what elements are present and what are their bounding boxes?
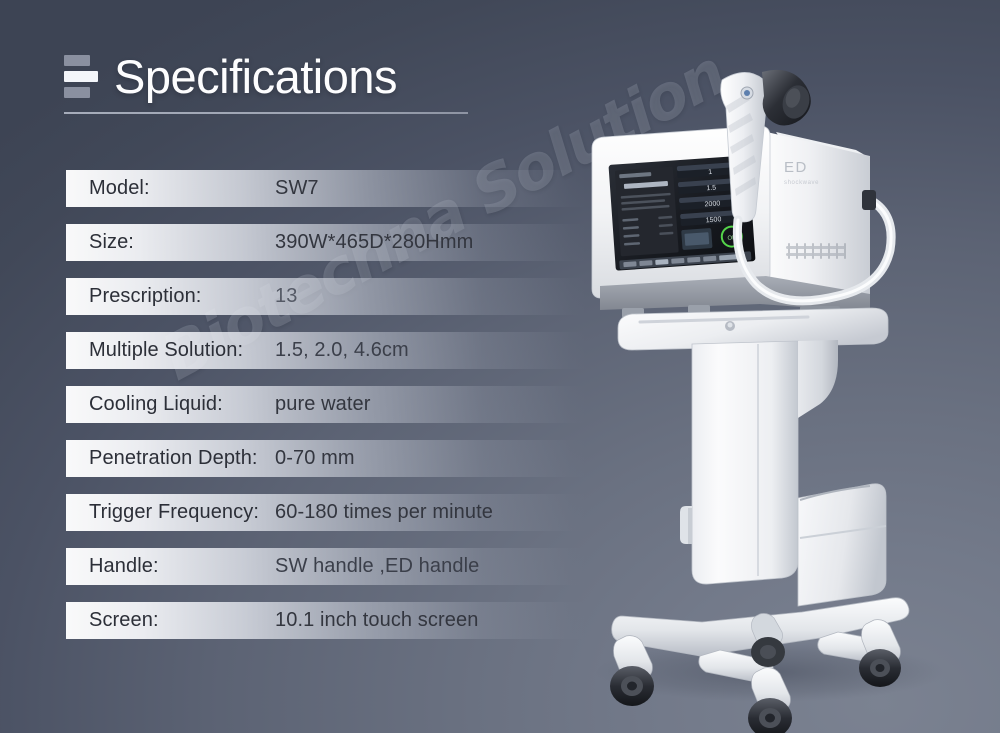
product-image: 1 1.5 2000 1500 OK	[570, 60, 990, 700]
svg-text:1.5: 1.5	[706, 185, 716, 193]
page-title: Specifications	[114, 53, 397, 100]
table-row: Handle: SW handle ,ED handle	[66, 548, 586, 585]
table-row: Trigger Frequency: 60-180 times per minu…	[66, 494, 586, 531]
trolley-column-shoulder	[798, 340, 838, 418]
spec-value: SW handle ,ED handle	[275, 555, 479, 578]
spec-value: pure water	[275, 393, 371, 416]
spec-label: Trigger Frequency:	[89, 501, 275, 524]
spec-label: Multiple Solution:	[89, 339, 275, 362]
specifications-slide: Biotechna Solution Specifications Model:…	[0, 0, 1000, 733]
table-row: Penetration Depth: 0-70 mm	[66, 440, 586, 477]
table-row: Cooling Liquid: pure water	[66, 386, 586, 423]
spec-label: Size:	[89, 231, 275, 254]
spec-value: 0-70 mm	[275, 447, 355, 470]
spec-label: Model:	[89, 177, 275, 200]
table-row: Multiple Solution: 1.5, 2.0, 4.6cm	[66, 332, 586, 369]
spec-value: 1.5, 2.0, 4.6cm	[275, 339, 409, 362]
cable-connector	[862, 190, 876, 210]
table-row: Screen: 10.1 inch touch screen	[66, 602, 586, 639]
spec-value: 60-180 times per minute	[275, 501, 493, 524]
unit-right-face	[758, 130, 870, 300]
spec-value: 390W*465D*280Hmm	[275, 231, 473, 254]
title-divider	[64, 112, 468, 114]
handle-led-icon	[744, 90, 750, 96]
spec-label: Handle:	[89, 555, 275, 578]
svg-text:2000: 2000	[704, 200, 720, 208]
table-row: Model: SW7	[66, 170, 586, 207]
spec-value: 13	[275, 285, 297, 308]
list-bars-icon	[64, 52, 98, 100]
specifications-table: Model: SW7 Size: 390W*465D*280Hmm Prescr…	[66, 170, 586, 656]
table-row: Size: 390W*465D*280Hmm	[66, 224, 586, 261]
page-header: Specifications	[64, 52, 484, 114]
table-row: Prescription: 13	[66, 278, 586, 315]
brand-label: ED	[784, 159, 808, 176]
spec-value: 10.1 inch touch screen	[275, 609, 478, 632]
spec-label: Screen:	[89, 609, 275, 632]
spec-value: SW7	[275, 177, 319, 200]
svg-text:1: 1	[708, 169, 712, 176]
brand-sublabel: shockwave	[784, 180, 819, 186]
spec-label: Prescription:	[89, 285, 275, 308]
trolley-column	[692, 341, 798, 584]
spec-label: Penetration Depth:	[89, 447, 275, 470]
spec-label: Cooling Liquid:	[89, 393, 275, 416]
svg-text:1500: 1500	[706, 216, 722, 224]
storage-bin	[798, 484, 886, 606]
